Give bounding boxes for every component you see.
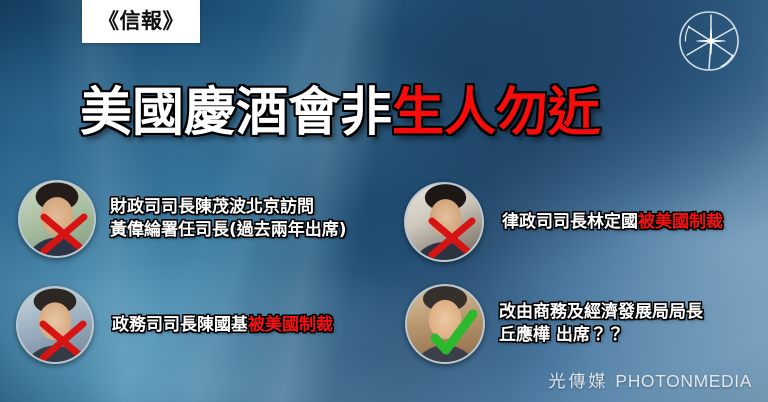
red-x-icon [20, 182, 94, 256]
avatar [16, 286, 94, 364]
list-item-line-text: 黃偉綸署任司長(過去兩年出席) [110, 220, 347, 240]
green-check-icon [407, 286, 483, 362]
list-item-line-highlight: 被美國制裁 [638, 212, 723, 232]
graphic-canvas: 《信報》 美國慶酒會非 生人 [0, 0, 768, 402]
list-item: 政務司司長陳國基被美國制裁 [16, 286, 333, 364]
masthead-label: 《信報》 [98, 11, 184, 32]
avatar [18, 180, 96, 258]
list-item-line-text: 政務司司長陳國基 [112, 315, 248, 335]
list-item-label: 律政司司長林定國被美國制裁 [502, 211, 723, 234]
red-x-icon [18, 288, 92, 362]
list-item: 財政司司長陳茂波北京訪問 黃偉綸署任司長(過去兩年出席) [18, 180, 347, 258]
list-item-label: 政務司司長陳國基被美國制裁 [112, 314, 333, 337]
list-item-line-text: 丘應樺 出席？？ [499, 325, 624, 345]
page-title: 美國慶酒會非 生人勿近 [80, 82, 704, 144]
headline-white-text: 美國慶酒會非 [80, 87, 392, 139]
list-item-label: 改由商務及經濟發展局局長 丘應樺 出席？？ [499, 301, 703, 346]
list-item-line-highlight: 被美國制裁 [248, 315, 333, 335]
watermark-english-label: PHOTONMEDIA [615, 371, 752, 392]
watermark: 光傳媒 PHOTONMEDIA [548, 367, 752, 392]
avatar [405, 284, 485, 364]
list-item: 改由商務及經濟發展局局長 丘應樺 出席？？ [405, 284, 703, 364]
photonmedia-logo-icon [676, 8, 742, 74]
avatar [404, 182, 484, 262]
list-item-line-text: 律政司司長林定國 [502, 212, 638, 232]
masthead-source-badge: 《信報》 [82, 0, 200, 43]
headline-red-text: 生人勿近 [392, 87, 600, 139]
list-item: 律政司司長林定國被美國制裁 [404, 182, 723, 262]
red-x-icon [406, 184, 482, 260]
list-item-line-text: 財政司司長陳茂波北京訪問 [110, 197, 314, 217]
watermark-chinese-label: 光傳媒 [548, 367, 608, 392]
list-item-line-text: 改由商務及經濟發展局局長 [499, 302, 703, 322]
list-item-label: 財政司司長陳茂波北京訪問 黃偉綸署任司長(過去兩年出席) [110, 196, 347, 241]
